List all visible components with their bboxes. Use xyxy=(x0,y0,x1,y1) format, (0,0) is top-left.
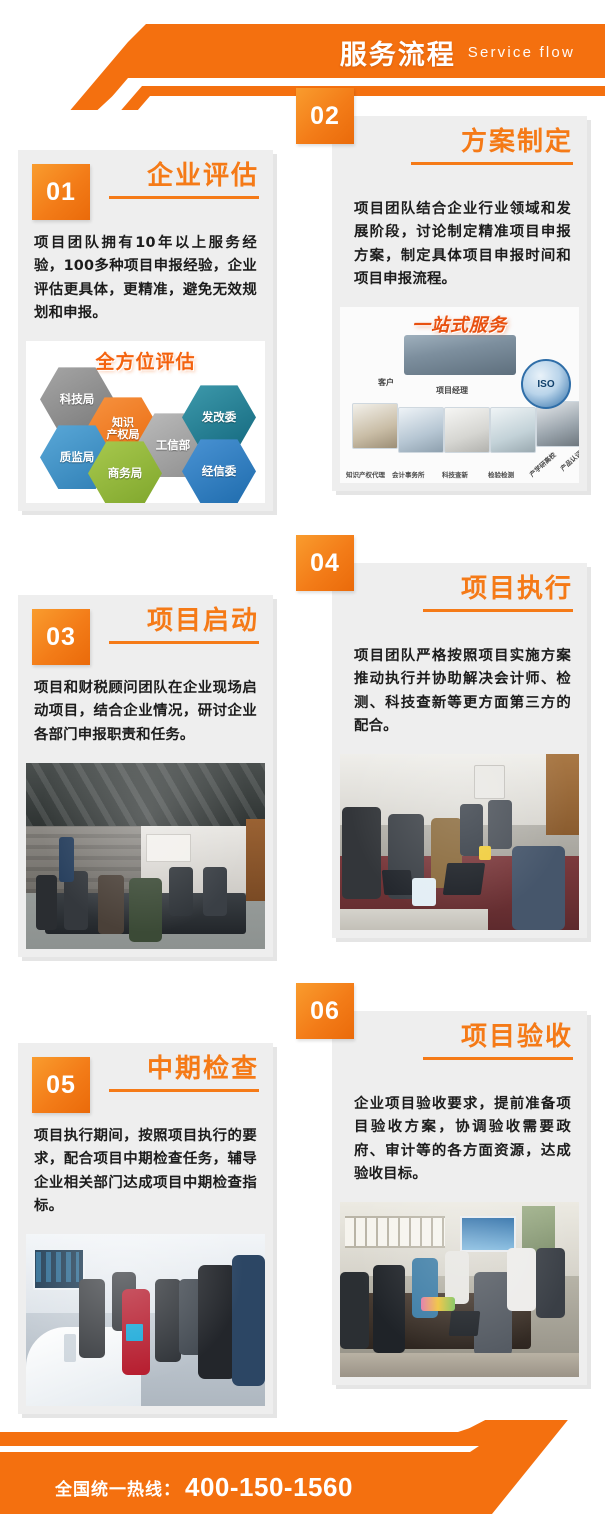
footer-banner: 全国统一热线： 400-150-1560 xyxy=(0,1420,605,1538)
card-02-number-badge: 02 xyxy=(296,88,354,144)
cards-grid: 01 企业评估 项目团队拥有10年以上服务经验，100多种项目申报经验，企业评估… xyxy=(0,108,605,1457)
card-06-body: 企业项目验收要求，提前准备项目验收方案，协调验收需要政府、审计等的各方面资源，达… xyxy=(332,1087,587,1198)
card-03-title: 项目启动 xyxy=(109,607,259,636)
hex-figure-title: 全方位评估 xyxy=(95,347,195,374)
card-04-title-rule xyxy=(423,609,573,612)
onestop-node-ip xyxy=(352,403,398,449)
card-06-title-wrap: 项目验收 xyxy=(423,1023,573,1060)
onestop-title: 一站式服务 xyxy=(412,311,507,337)
card-06-head: 06 项目验收 xyxy=(332,1011,587,1087)
photo-light-wash xyxy=(340,754,579,930)
card-row-3: 05 中期检查 项目执行期间，按照项目执行的要求，配合项目中期检查任务，辅导企业… xyxy=(0,1005,605,1457)
card-03-body: 项目和财税顾问团队在企业现场启动项目，结合企业情况，研讨企业各部门申报职责和任务… xyxy=(18,671,273,759)
card-04-title: 项目执行 xyxy=(423,575,573,604)
onestop-label-customer: 客户 xyxy=(378,377,394,388)
card-05-photo-exhibition-hall xyxy=(26,1234,265,1406)
card-02-head: 02 方案制定 xyxy=(332,116,587,192)
card-02-media-onestop-figure: 一站式服务 客户 项目经理 ISO 知识产权代理 会计事务所 科技查新 检验检测… xyxy=(340,307,579,483)
card-06[interactable]: 06 项目验收 企业项目验收要求，提前准备项目验收方案，协调验收需要政府、审计等… xyxy=(332,1011,587,1385)
card-03[interactable]: 03 项目启动 项目和财税顾问团队在企业现场启动项目，结合企业情况，研讨企业各部… xyxy=(18,595,273,957)
card-01-title-rule xyxy=(109,196,259,199)
onestop-node-testing xyxy=(490,407,536,453)
card-05-body: 项目执行期间，按照项目执行的要求，配合项目中期检查任务，辅导企业相关部门达成项目… xyxy=(18,1119,273,1230)
onestop-foot-ip: 知识产权代理 xyxy=(346,469,385,479)
card-05-number-badge: 05 xyxy=(32,1057,90,1113)
card-04-body: 项目团队严格按照项目实施方案推动执行并协助解决会计师、检测、科技查新等更方面第三… xyxy=(332,639,587,750)
card-03-title-rule xyxy=(109,641,259,644)
card-03-number-badge: 03 xyxy=(32,609,90,665)
card-04-photo-working-meeting xyxy=(340,754,579,930)
onestop-foot-testing: 检验检测 xyxy=(488,469,514,479)
onestop-node-accounting xyxy=(398,407,444,453)
card-01-head: 01 企业评估 xyxy=(18,150,273,226)
card-02[interactable]: 02 方案制定 项目团队结合企业行业领域和发展阶段，讨论制定精准项目申报方案，制… xyxy=(332,116,587,491)
onestop-foot-search: 科技查新 xyxy=(442,469,468,479)
card-03-title-wrap: 项目启动 xyxy=(109,607,259,644)
onestop-certification-seal: ISO xyxy=(521,359,571,409)
card-04-number-badge: 04 xyxy=(296,535,354,591)
card-05-title-wrap: 中期检查 xyxy=(109,1055,259,1092)
card-01-body: 项目团队拥有10年以上服务经验，100多种项目申报经验，企业评估更具体，更精准，… xyxy=(18,226,273,337)
card-05-head: 05 中期检查 xyxy=(18,1043,273,1119)
onestop-hub-photo xyxy=(404,335,516,375)
card-row-2: 03 项目启动 项目和财税顾问团队在企业现场启动项目，结合企业情况，研讨企业各部… xyxy=(0,555,605,1005)
card-06-photo-boardroom xyxy=(340,1202,579,1377)
card-05[interactable]: 05 中期检查 项目执行期间，按照项目执行的要求，配合项目中期检查任务，辅导企业… xyxy=(18,1043,273,1414)
card-02-title: 方案制定 xyxy=(411,128,573,157)
card-01-title-wrap: 企业评估 xyxy=(109,162,259,199)
card-01-number-badge: 01 xyxy=(32,164,90,220)
card-01[interactable]: 01 企业评估 项目团队拥有10年以上服务经验，100多种项目申报经验，企业评估… xyxy=(18,150,273,511)
onestop-foot-accounting: 会计事务所 xyxy=(392,469,425,479)
card-02-body: 项目团队结合企业行业领域和发展阶段，讨论制定精准项目申报方案，制定具体项目申报时… xyxy=(332,192,587,303)
card-01-title: 企业评估 xyxy=(109,162,259,191)
card-03-photo-conference-room xyxy=(26,763,265,949)
card-06-title: 项目验收 xyxy=(423,1023,573,1052)
photo-light-wash xyxy=(340,1202,579,1377)
card-04-title-wrap: 项目执行 xyxy=(423,575,573,612)
card-05-title: 中期检查 xyxy=(109,1055,259,1084)
service-flow-infographic: 服务流程 Service flow 01 企业评估 项目团队拥有10年以上服务经… xyxy=(0,0,605,1538)
card-04-head: 04 项目执行 xyxy=(332,563,587,639)
card-02-title-rule xyxy=(411,162,573,165)
card-04[interactable]: 04 项目执行 项目团队严格按照项目实施方案推动执行并协助解决会计师、检测、科技… xyxy=(332,563,587,938)
footer-banner-shape xyxy=(0,1420,605,1538)
card-02-title-wrap: 方案制定 xyxy=(411,128,573,165)
onestop-label-manager: 项目经理 xyxy=(436,385,468,396)
card-06-title-rule xyxy=(423,1057,573,1060)
card-05-title-rule xyxy=(109,1089,259,1092)
photo-light-wash xyxy=(26,763,265,949)
card-06-number-badge: 06 xyxy=(296,983,354,1039)
card-01-media-hex-figure: 全方位评估 科技局 知识 产权局 质监局 工信部 发改委 商务局 经信委 xyxy=(26,341,265,503)
onestop-foot-university: 产学研高校 xyxy=(527,450,558,479)
onestop-node-search xyxy=(444,407,490,453)
card-03-head: 03 项目启动 xyxy=(18,595,273,671)
card-row-1: 01 企业评估 项目团队拥有10年以上服务经验，100多种项目申报经验，企业评估… xyxy=(0,108,605,555)
photo-light-wash xyxy=(26,1234,265,1406)
